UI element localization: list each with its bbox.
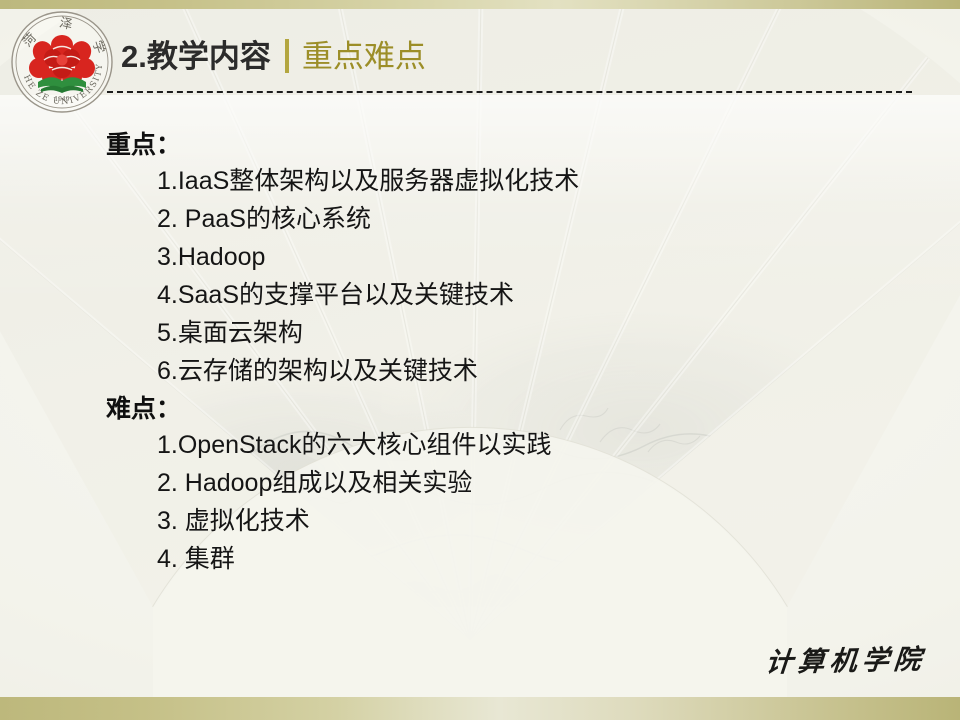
list-item: 3.Hadoop bbox=[157, 238, 960, 276]
list-item: 3. 虚拟化技术 bbox=[157, 502, 960, 540]
slide-canvas: 菏 泽 学 院 HE ZE UNIVERSITY bbox=[0, 0, 960, 720]
slide-header: 菏 泽 学 院 HE ZE UNIVERSITY bbox=[0, 0, 960, 112]
slide-title-row: 2.教学内容 重点难点 bbox=[121, 31, 426, 81]
page-title: 2.教学内容 bbox=[121, 41, 271, 72]
list-item: 6.云存储的架构以及关键技术 bbox=[157, 352, 960, 390]
section-heading: 重点： bbox=[106, 128, 960, 162]
heze-university-seal-icon: 菏 泽 学 院 HE ZE UNIVERSITY bbox=[8, 8, 116, 116]
section-difficult-points: 难点： 1.OpenStack的六大核心组件以实践 2. Hadoop组成以及相… bbox=[0, 392, 960, 578]
key-points-list: 1.IaaS整体架构以及服务器虚拟化技术 2. PaaS的核心系统 3.Hado… bbox=[0, 162, 960, 390]
list-item: 2. PaaS的核心系统 bbox=[157, 200, 960, 238]
list-item: 4. 集群 bbox=[157, 540, 960, 578]
list-item: 5.桌面云架构 bbox=[157, 314, 960, 352]
top-accent-band bbox=[0, 0, 960, 9]
list-item: 1.IaaS整体架构以及服务器虚拟化技术 bbox=[157, 162, 960, 200]
difficult-points-list: 1.OpenStack的六大核心组件以实践 2. Hadoop组成以及相关实验 … bbox=[0, 426, 960, 578]
page-subtitle: 重点难点 bbox=[302, 41, 426, 72]
title-divider-bar bbox=[285, 39, 289, 73]
list-item: 1.OpenStack的六大核心组件以实践 bbox=[157, 426, 960, 464]
list-item: 4.SaaS的支撑平台以及关键技术 bbox=[157, 276, 960, 314]
section-key-points: 重点： 1.IaaS整体架构以及服务器虚拟化技术 2. PaaS的核心系统 3.… bbox=[0, 128, 960, 390]
slide-body: 重点： 1.IaaS整体架构以及服务器虚拟化技术 2. PaaS的核心系统 3.… bbox=[0, 128, 960, 578]
section-heading: 难点： bbox=[106, 392, 960, 426]
header-dashed-rule bbox=[107, 91, 912, 93]
bottom-accent-band bbox=[0, 697, 960, 720]
footer-department-mark: 计算机学院 bbox=[764, 637, 928, 679]
list-item: 2. Hadoop组成以及相关实验 bbox=[157, 464, 960, 502]
svg-text:1949: 1949 bbox=[54, 96, 69, 103]
